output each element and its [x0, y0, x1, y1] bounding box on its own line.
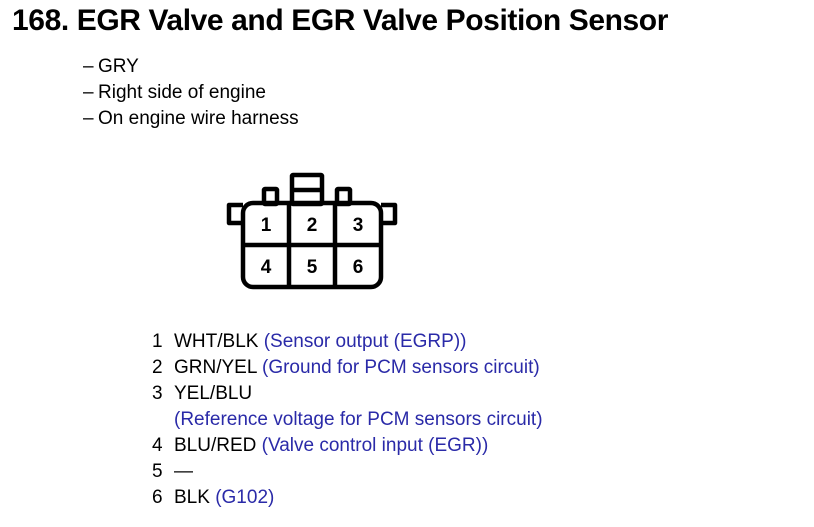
pin-number: 5 [152, 459, 174, 485]
connector-center-tab [292, 175, 322, 204]
pin-entry: GRN/YEL (Ground for PCM sensors circuit) [174, 355, 540, 381]
pin-number: 3 [152, 381, 174, 407]
pin-legend: 1 WHT/BLK (Sensor output (EGRP)) 2 GRN/Y… [152, 329, 792, 511]
connector-diagram: 1 2 3 4 5 6 [222, 170, 402, 295]
dash-icon: – [83, 54, 98, 80]
list-item: – Right side of engine [83, 80, 583, 106]
list-item: – On engine wire harness [83, 106, 583, 132]
connector-pin-6: 6 [353, 257, 364, 278]
pin-legend-row: 5 — [152, 459, 792, 485]
pin-legend-row: 2 GRN/YEL (Ground for PCM sensors circui… [152, 355, 792, 381]
pin-wire-color: GRN/YEL [174, 357, 257, 378]
pin-entry: BLK (G102) [174, 485, 274, 511]
pin-number: 4 [152, 433, 174, 459]
connector-pin-1: 1 [261, 215, 272, 236]
pin-legend-row: 6 BLK (G102) [152, 485, 792, 511]
list-item: – GRY [83, 54, 583, 80]
pin-legend-row: 1 WHT/BLK (Sensor output (EGRP)) [152, 329, 792, 355]
list-item-label: GRY [98, 54, 139, 80]
pin-legend-row: 3 YEL/BLU [152, 381, 792, 407]
connector-pin-4: 4 [261, 257, 272, 278]
pin-number: 2 [152, 355, 174, 381]
list-item-label: Right side of engine [98, 80, 266, 106]
connector-details-list: – GRY – Right side of engine – On engine… [83, 54, 583, 132]
pin-entry: BLU/RED (Valve control input (EGR)) [174, 433, 488, 459]
pin-entry: WHT/BLK (Sensor output (EGRP)) [174, 329, 466, 355]
pin-description: (G102) [215, 487, 274, 508]
pin-wire-color: BLU/RED [174, 435, 256, 456]
pin-description: (Sensor output (EGRP)) [264, 331, 467, 352]
pin-wire-color: BLK [174, 487, 210, 508]
pin-wire-color: — [174, 461, 193, 482]
connector-pin-5: 5 [307, 257, 318, 278]
pin-number: 1 [152, 329, 174, 355]
pin-wire-color: YEL/BLU [174, 383, 252, 404]
dash-icon: – [83, 80, 98, 106]
dash-icon: – [83, 106, 98, 132]
connector-pin-3: 3 [353, 215, 364, 236]
pin-wire-color: WHT/BLK [174, 331, 258, 352]
pin-description-continued: (Reference voltage for PCM sensors circu… [152, 407, 792, 433]
pin-number: 6 [152, 485, 174, 511]
list-item-label: On engine wire harness [98, 106, 299, 132]
pin-entry: — [174, 459, 193, 485]
page-title: 168. EGR Valve and EGR Valve Position Se… [12, 2, 812, 40]
pin-entry: YEL/BLU [174, 381, 252, 407]
connector-pin-2: 2 [307, 215, 318, 236]
pin-description: (Ground for PCM sensors circuit) [262, 357, 540, 378]
pin-legend-row: 4 BLU/RED (Valve control input (EGR)) [152, 433, 792, 459]
pin-description: (Valve control input (EGR)) [262, 435, 489, 456]
